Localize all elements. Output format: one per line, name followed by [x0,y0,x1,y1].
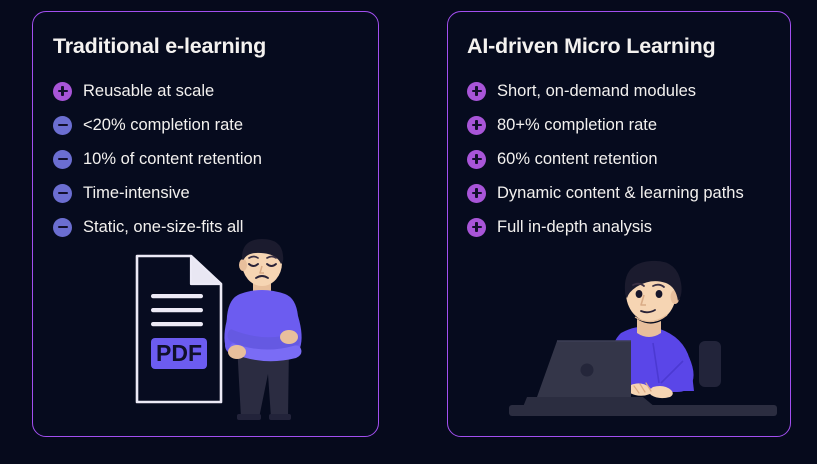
comparison-slide: Traditional e-learning Reusable at scale… [0,0,817,464]
plus-circle-icon [467,184,486,203]
list-item: 80+% completion rate [467,108,780,142]
list-item: Short, on-demand modules [467,74,780,108]
card-traditional-elearning[interactable]: Traditional e-learning Reusable at scale… [32,11,379,437]
list-item: Full in-depth analysis [467,210,780,244]
plus-circle-icon [467,218,486,237]
bullet-list-traditional: Reusable at scale <20% completion rate 1… [53,74,368,244]
bullet-label: Static, one-size-fits all [83,219,243,236]
minus-circle-icon [53,116,72,135]
minus-circle-icon [53,184,72,203]
bullet-list-ai-driven: Short, on-demand modules 80+% completion… [467,74,780,244]
bullet-label: 60% content retention [497,151,658,168]
plus-circle-icon [467,116,486,135]
standing-person-figure [224,239,301,420]
list-item: Time-intensive [53,176,368,210]
illustration-person-on-laptop [503,249,783,424]
bullet-label: Dynamic content & learning paths [497,185,744,202]
cards-container: Traditional e-learning Reusable at scale… [0,0,817,464]
illustration-frustrated-person-with-pdf: PDF [129,234,329,424]
pdf-badge-label: PDF [156,340,202,366]
plus-circle-icon [467,150,486,169]
list-item: 60% content retention [467,142,780,176]
bullet-label: Full in-depth analysis [497,219,652,236]
card-ai-driven-micro-learning[interactable]: AI-driven Micro Learning Short, on-deman… [447,11,791,437]
minus-circle-icon [53,150,72,169]
list-item: Reusable at scale [53,74,368,108]
bullet-label: Short, on-demand modules [497,83,696,100]
bullet-label: Reusable at scale [83,83,214,100]
plus-circle-icon [467,82,486,101]
bullet-label: <20% completion rate [83,117,243,134]
desk-surface [509,405,777,416]
list-item: 10% of content retention [53,142,368,176]
list-item: Dynamic content & learning paths [467,176,780,210]
bullet-label: 80+% completion rate [497,117,657,134]
card-title-traditional: Traditional e-learning [53,34,364,59]
bullet-label: 10% of content retention [83,151,262,168]
plus-circle-icon [53,82,72,101]
list-item: <20% completion rate [53,108,368,142]
card-title-ai-driven: AI-driven Micro Learning [467,34,776,59]
minus-circle-icon [53,218,72,237]
bullet-label: Time-intensive [83,185,190,202]
pdf-document-icon: PDF [137,256,221,402]
